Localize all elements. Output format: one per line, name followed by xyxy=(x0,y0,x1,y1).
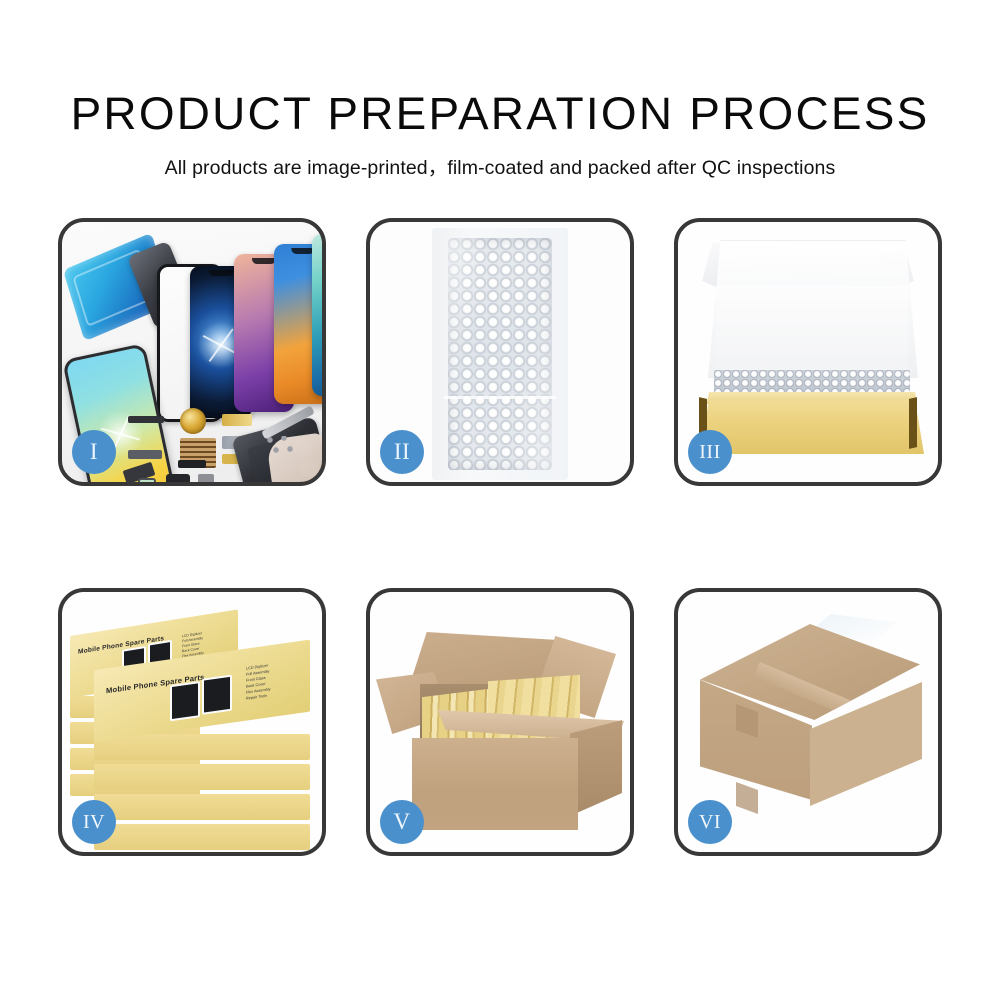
phone-screen-teal-icon xyxy=(312,234,322,396)
flex-cable-icon xyxy=(222,414,252,426)
screws-icon xyxy=(266,436,296,456)
step-badge-2: II xyxy=(380,430,424,474)
flex-cable-icon xyxy=(128,450,162,459)
notch-icon xyxy=(252,258,276,264)
stacked-box-slab xyxy=(94,794,310,820)
screen-image-icon xyxy=(170,681,200,721)
page-title: PRODUCT PREPARATION PROCESS xyxy=(0,0,1000,137)
step-panel-4-stacked-boxes: Mobile Phone Spare Parts LCD Digitizer F… xyxy=(58,588,326,856)
stacked-box-slab xyxy=(94,734,310,760)
speaker-module-icon xyxy=(166,474,190,482)
stacked-box-slab xyxy=(94,824,310,850)
foam-liner-icon xyxy=(716,286,908,376)
plastic-sheen-overlay xyxy=(448,238,552,470)
step-badge-1: I xyxy=(72,430,116,474)
step-badge-5: V xyxy=(380,800,424,844)
box-front-panel-icon xyxy=(700,400,924,454)
page-subtitle: All products are image-printed，film-coat… xyxy=(0,137,1000,180)
box-corner-right-icon xyxy=(909,397,917,449)
sim-tray-icon xyxy=(198,474,214,482)
wrap-seam-icon xyxy=(444,396,556,399)
box-spec-line: Repair Tools xyxy=(246,694,267,702)
flex-cable-icon xyxy=(128,416,164,423)
notch-icon xyxy=(209,270,234,276)
process-steps-grid: I II III xyxy=(58,218,942,856)
screen-image-icon xyxy=(202,675,232,715)
page-header: PRODUCT PREPARATION PROCESS All products… xyxy=(0,0,1000,180)
step-panel-5-carton-filling: V xyxy=(366,588,634,856)
step-panel-1-products: I xyxy=(58,218,326,486)
carton-front-panel-icon xyxy=(412,738,578,830)
step-panel-3-inner-box: III xyxy=(674,218,942,486)
step-badge-6: VI xyxy=(688,800,732,844)
step-panel-2-bubble-wrap: II xyxy=(366,218,634,486)
connector-icon xyxy=(178,460,206,468)
step-panel-6-carton-sealed: VI xyxy=(674,588,942,856)
stacked-box-slab xyxy=(94,764,310,790)
step-badge-4: IV xyxy=(72,800,116,844)
camera-module-icon xyxy=(138,478,156,482)
step-badge-3: III xyxy=(688,430,732,474)
vibration-coil-icon xyxy=(180,408,206,434)
